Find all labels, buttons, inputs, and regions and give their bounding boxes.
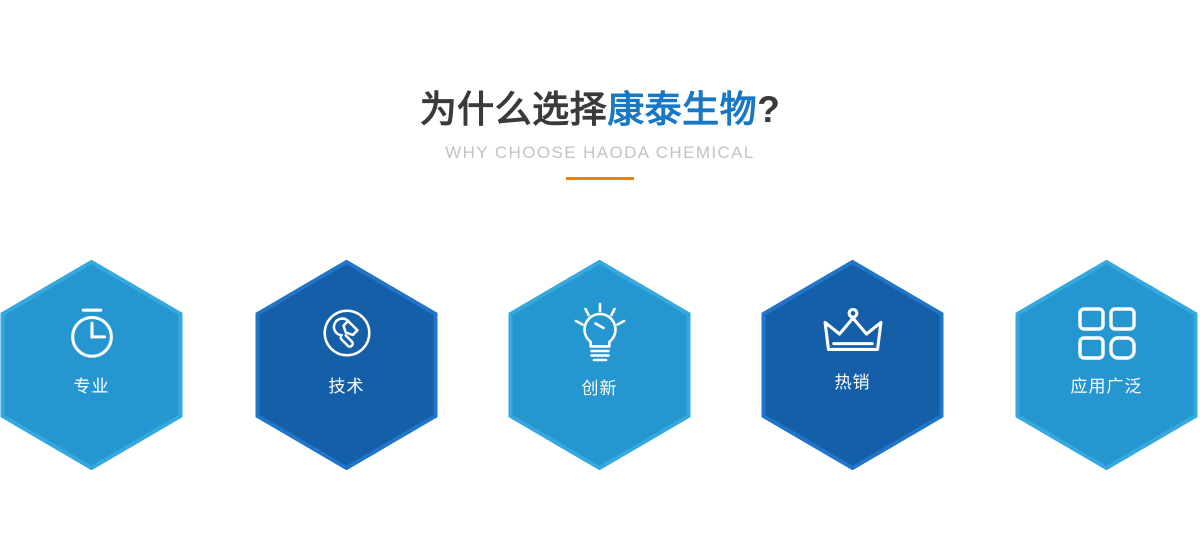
hexagon-shape xyxy=(508,260,691,470)
hexagon-shape xyxy=(1015,260,1198,470)
heading-block: 为什么选择康泰生物? WHY CHOOSE HAODA CHEMICAL xyxy=(0,86,1200,180)
page-title-brand: 康泰生物 xyxy=(607,89,757,130)
page-title-prefix: 为什么选择 xyxy=(420,89,608,130)
feature-hexagon-technology[interactable]: 技术 xyxy=(255,260,438,470)
feature-hexagon-bestseller[interactable]: 热销 xyxy=(761,260,944,470)
hexagon-shape xyxy=(761,260,944,470)
why-choose-us-section: 为什么选择康泰生物? WHY CHOOSE HAODA CHEMICAL 专业 xyxy=(0,0,1200,560)
feature-hexagon-wide-application[interactable]: 应用广泛 xyxy=(1015,260,1198,470)
page-subtitle: WHY CHOOSE HAODA CHEMICAL xyxy=(0,143,1200,163)
page-title-question-mark: ? xyxy=(757,89,780,130)
hexagon-shape xyxy=(0,260,183,470)
page-title: 为什么选择康泰生物? xyxy=(0,86,1200,133)
feature-hexagon-professional[interactable]: 专业 xyxy=(0,260,183,470)
feature-hexagon-row: 专业 技术 xyxy=(0,260,1200,472)
hexagon-shape xyxy=(255,260,438,470)
title-divider xyxy=(566,177,634,180)
feature-hexagon-innovation[interactable]: 创新 xyxy=(508,260,691,470)
